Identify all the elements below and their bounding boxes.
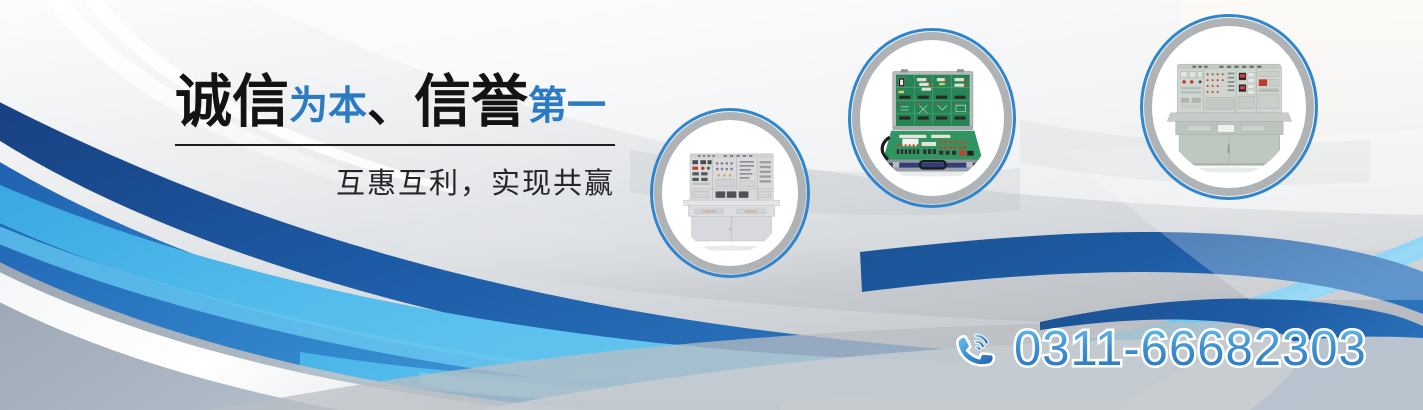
product-circle-1[interactable] (650, 108, 810, 278)
headline-divider (175, 144, 615, 146)
phone-number-wrap: 0311-66682303 0311-66682303 (1014, 325, 1367, 374)
product-image-training-case (872, 52, 992, 184)
headline-part1-sub: 为本 (289, 85, 367, 128)
circle-grey-ring (1144, 18, 1314, 196)
headline-part1-main: 诚信 (175, 70, 289, 134)
circle-grey-ring (852, 32, 1012, 204)
phone-number[interactable]: 0311-66682303 (1014, 322, 1367, 376)
promo-banner: 诚信为本、信誉第一 互惠互利，实现共赢 (0, 0, 1423, 410)
headline-block: 诚信为本、信誉第一 (175, 74, 635, 131)
contact-phone-block[interactable]: 0311-66682303 0311-66682303 (952, 325, 1367, 374)
phone-icon (952, 326, 1000, 374)
product-circle-2[interactable] (848, 28, 1016, 208)
product-circle-3[interactable] (1140, 14, 1318, 200)
circle-grey-ring (654, 112, 806, 274)
page-title: 诚信为本、信誉第一 (175, 74, 635, 131)
headline-separator: 、 (367, 79, 414, 132)
subtitle: 互惠互利，实现共赢 (175, 160, 615, 202)
product-image-workbench (674, 132, 786, 254)
headline-part2-sub: 第一 (528, 85, 606, 128)
headline-part2-main: 信誉 (414, 70, 528, 134)
product-image-green-workbench (1164, 38, 1294, 176)
